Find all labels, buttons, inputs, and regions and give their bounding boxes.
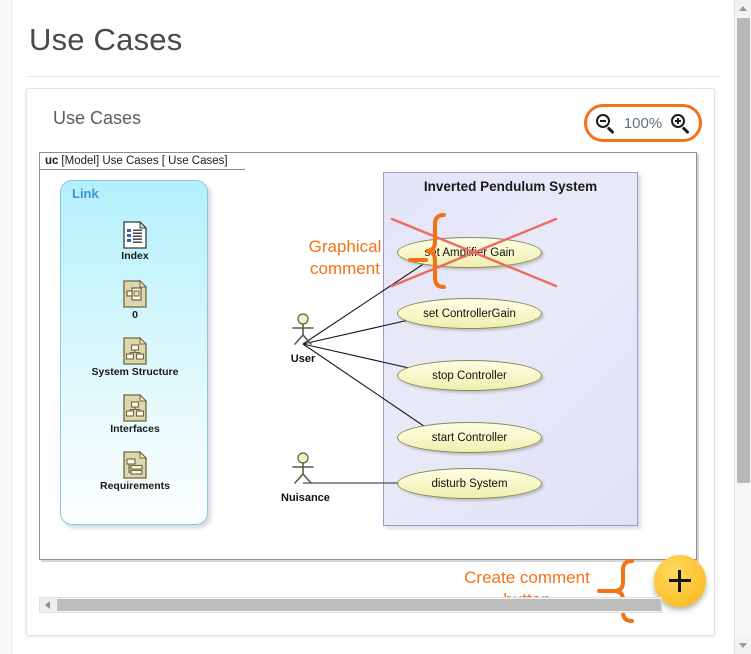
- use-case-start-controller[interactable]: start Controller: [397, 422, 542, 453]
- document-list-icon: [123, 221, 147, 249]
- diagram-frame-keyword: uc: [45, 155, 58, 167]
- page-content: Use Cases Use Cases Zoom in/zoom out but…: [12, 0, 734, 654]
- requirements-table-icon: [123, 451, 147, 479]
- diagram-frame-name: [Model] Use Cases [ Use Cases]: [61, 155, 227, 167]
- link-item-index[interactable]: Index: [61, 221, 209, 262]
- actor-nuisance[interactable]: Nuisance: [281, 452, 325, 504]
- horizontal-scrollbar-thumb[interactable]: [57, 599, 661, 611]
- annotation-graphical-line1: Graphical: [280, 236, 410, 258]
- annotation-create-line1: Create comment: [442, 567, 612, 589]
- zoom-level-label: 100%: [624, 115, 662, 132]
- link-item-label: Interfaces: [61, 423, 209, 435]
- actor-label: Nuisance: [281, 492, 325, 504]
- magnifier-plus-icon[interactable]: [671, 114, 690, 133]
- link-item-label: Index: [61, 250, 209, 262]
- diagram-frame-label: uc [Model] Use Cases [ Use Cases]: [39, 152, 245, 170]
- link-item-label: System Structure: [61, 366, 209, 378]
- triangle-up-icon[interactable]: [735, 0, 751, 17]
- card-title: Use Cases: [53, 108, 141, 129]
- use-case-label: set ControllerGain: [423, 308, 516, 320]
- vertical-scrollbar-thumb[interactable]: [737, 18, 750, 483]
- use-case-label: set Amplifier Gain: [424, 247, 514, 259]
- link-package-label: Link: [72, 186, 99, 201]
- actor-figure-icon: [281, 313, 325, 347]
- block-definition-icon: [123, 280, 147, 308]
- use-case-stop-controller[interactable]: stop Controller: [397, 360, 542, 391]
- triangle-left-icon[interactable]: [40, 598, 56, 612]
- use-case-disturb-system[interactable]: disturb System: [397, 468, 542, 499]
- actor-label: User: [281, 353, 325, 365]
- use-case-label: start Controller: [432, 432, 507, 444]
- use-case-label: disturb System: [431, 478, 507, 490]
- link-item-system-structure[interactable]: System Structure: [61, 337, 209, 378]
- page-title: Use Cases: [29, 22, 182, 58]
- title-divider: [26, 76, 720, 77]
- link-item-label: 0: [61, 309, 209, 321]
- horizontal-scrollbar[interactable]: [39, 597, 662, 613]
- annotation-graphical-comment: Graphical comment: [280, 236, 410, 280]
- use-case-set-amplifier-gain[interactable]: set Amplifier Gain: [397, 237, 542, 268]
- plus-icon: [669, 570, 691, 592]
- link-package[interactable]: Link: [60, 180, 208, 525]
- use-case-set-controller-gain[interactable]: set ControllerGain: [397, 298, 542, 329]
- link-item-label: Requirements: [61, 480, 209, 492]
- system-boundary-title: Inverted Pendulum System: [384, 179, 637, 194]
- diagram-frame[interactable]: uc [Model] Use Cases [ Use Cases] Link: [39, 152, 697, 560]
- hierarchy-icon: [123, 337, 147, 365]
- link-item-0[interactable]: 0: [61, 280, 209, 321]
- triangle-down-icon[interactable]: [735, 637, 751, 654]
- actor-figure-icon: [281, 452, 325, 486]
- magnifier-minus-icon[interactable]: [596, 114, 615, 133]
- page-root: Use Cases Use Cases Zoom in/zoom out but…: [0, 0, 751, 654]
- annotation-graphical-line2: comment: [280, 258, 410, 280]
- hierarchy-icon: [123, 394, 147, 422]
- actor-user[interactable]: User: [281, 313, 325, 365]
- vertical-scrollbar[interactable]: [734, 0, 751, 654]
- diagram-frame-tab-corner: [234, 152, 246, 171]
- page-left-gutter: [0, 0, 12, 654]
- link-item-interfaces[interactable]: Interfaces: [61, 394, 209, 435]
- link-item-requirements[interactable]: Requirements: [61, 451, 209, 492]
- use-case-label: stop Controller: [432, 370, 507, 382]
- zoom-control[interactable]: 100%: [584, 104, 702, 142]
- use-cases-card: Use Cases Zoom in/zoom out buttons 100%: [26, 88, 715, 636]
